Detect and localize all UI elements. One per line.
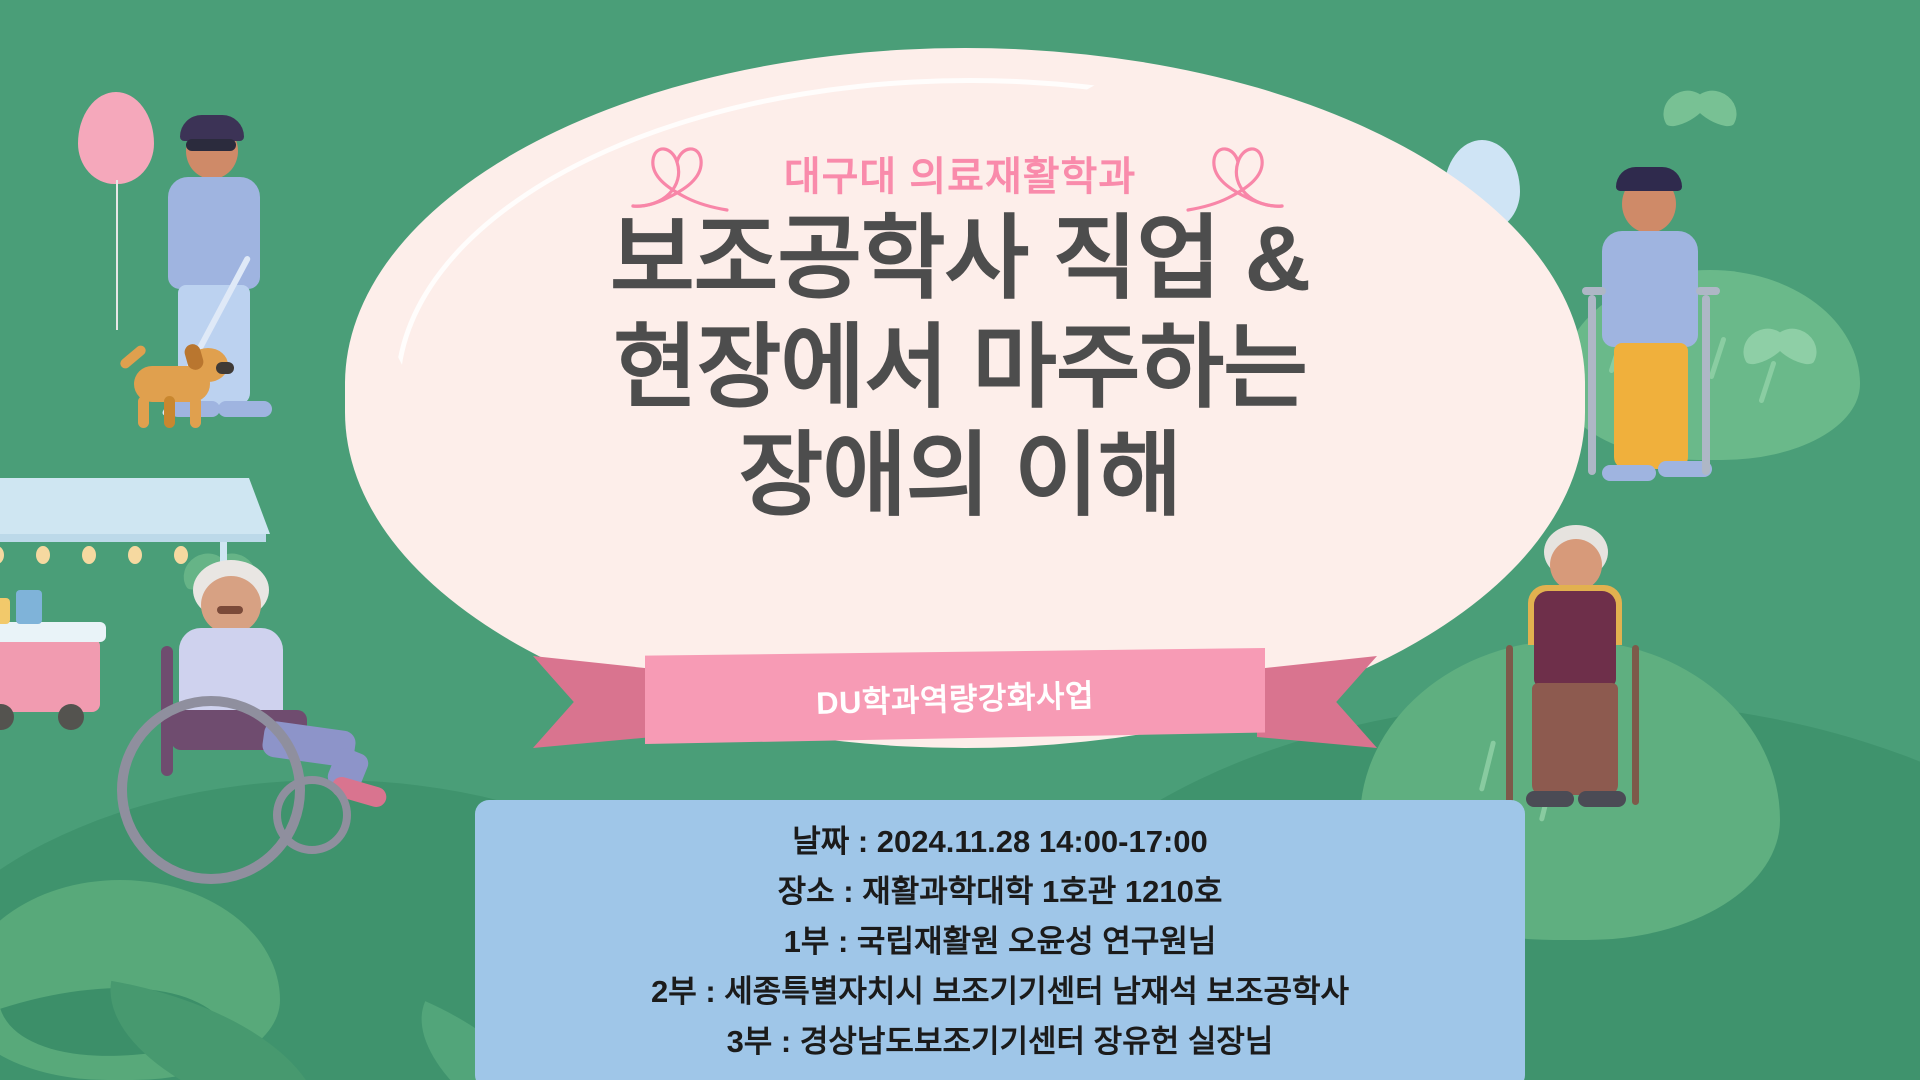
poster-title: 보조공학사 직업 & 현장에서 마주하는 장애의 이해 [0,205,1920,531]
illustration-elderly-woman-in-wheelchair [135,560,395,860]
program-ribbon: DU학과역량강화사업 [645,648,1265,744]
department-subtitle: 대구대 의료재활학과 [0,144,1920,202]
event-detail-venue: 장소 : 재활과학대학 1호관 1210호 [505,872,1495,913]
ribbon-tail-left [533,656,653,748]
event-detail-session-3: 3부 : 경상남도보조기기센터 장유헌 실장님 [505,1022,1495,1063]
title-line-2: 현장에서 마주하는 [0,314,1920,423]
illustration-elderly-man-with-canes [1500,525,1670,815]
ribbon-label: DU학과역량강화사업 [644,639,1266,752]
event-detail-session-1: 1부 : 국립재활원 오윤성 연구원님 [505,922,1495,963]
event-detail-date: 날짜 : 2024.11.28 14:00-17:00 [505,822,1495,863]
event-detail-session-2: 2부 : 세종특별자치시 보조기기센터 남재석 보조공학사 [505,972,1495,1013]
poster-canvas: 대구대 의료재활학과 보조공학사 직업 & 현장에서 마주하는 장애의 이해 D… [0,0,1920,1080]
event-details-box: 날짜 : 2024.11.28 14:00-17:00 장소 : 재활과학대학 … [475,800,1525,1080]
title-line-3: 장애의 이해 [0,422,1920,531]
title-line-1: 보조공학사 직업 & [0,205,1920,314]
ribbon-tail-right [1257,656,1377,748]
